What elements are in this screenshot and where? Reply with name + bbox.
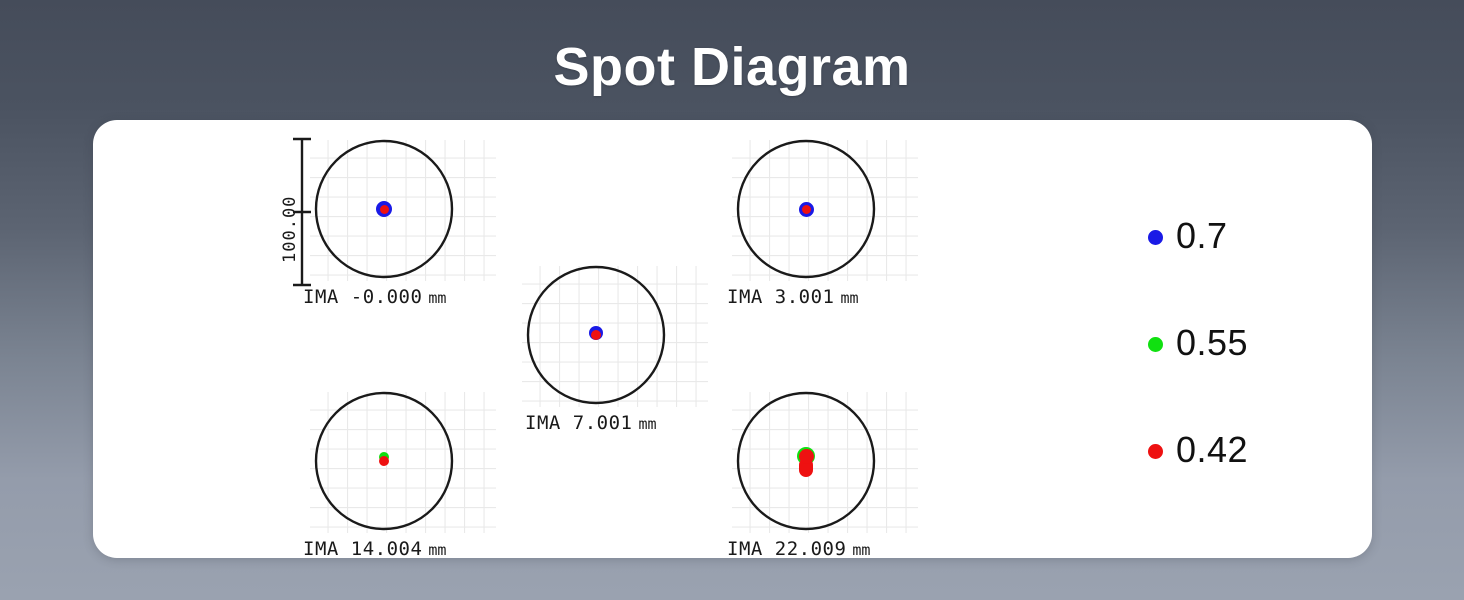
field-label-14-text: IMA 14.004 <box>303 538 422 558</box>
spot-plot-field-0: 100.00 IMA -0.000mm <box>308 138 498 313</box>
spot-point-red <box>379 456 389 466</box>
field-label-3-text: IMA 3.001 <box>727 286 834 308</box>
field-label-0: IMA -0.000mm <box>303 286 446 308</box>
field-label-0-text: IMA -0.000 <box>303 286 422 308</box>
spot-plot-field-14: IMA 14.004mm <box>308 390 498 558</box>
legend: 0.7 0.55 0.42 <box>1148 220 1348 541</box>
green-dot-icon <box>1148 337 1163 352</box>
legend-item-2[interactable]: 0.42 <box>1148 434 1348 541</box>
legend-item-1[interactable]: 0.55 <box>1148 327 1348 434</box>
spot-diagram-figure: Spot Diagram <box>0 0 1464 600</box>
field-label-7-text: IMA 7.001 <box>525 412 632 434</box>
spot-point-red <box>799 449 814 464</box>
airy-circle <box>730 390 920 535</box>
airy-circle <box>520 264 710 409</box>
spot-plot-field-22: IMA 22.009mm <box>730 390 920 558</box>
red-dot-icon <box>1148 444 1163 459</box>
airy-circle <box>730 138 920 283</box>
scale-bar-label: 100.00 <box>280 196 300 263</box>
spot-point-red <box>591 330 601 340</box>
spot-point-red <box>380 205 389 214</box>
field-label-14: IMA 14.004mm <box>303 538 446 558</box>
legend-label-0: 0.7 <box>1176 213 1228 259</box>
legend-label-1: 0.55 <box>1176 320 1248 366</box>
field-label-22: IMA 22.009mm <box>727 538 870 558</box>
airy-circle <box>308 138 498 283</box>
legend-item-0[interactable]: 0.7 <box>1148 220 1348 327</box>
field-label-14-unit: mm <box>422 541 446 558</box>
field-label-3: IMA 3.001mm <box>727 286 859 308</box>
spot-plot-field-7: IMA 7.001mm <box>520 264 710 439</box>
page-title: Spot Diagram <box>0 36 1464 98</box>
field-label-22-text: IMA 22.009 <box>727 538 846 558</box>
spot-plot-field-3: IMA 3.001mm <box>730 138 920 313</box>
field-label-22-unit: mm <box>846 541 870 558</box>
blue-dot-icon <box>1148 230 1163 245</box>
airy-circle <box>308 390 498 535</box>
chart-card: 100.00 IMA -0.000mm IMA 3.00 <box>93 120 1372 558</box>
legend-label-2: 0.42 <box>1176 427 1248 473</box>
field-label-0-unit: mm <box>422 289 446 307</box>
field-label-7-unit: mm <box>632 415 656 433</box>
spot-point-red <box>802 205 811 214</box>
field-label-7: IMA 7.001mm <box>525 412 657 434</box>
field-label-3-unit: mm <box>834 289 858 307</box>
